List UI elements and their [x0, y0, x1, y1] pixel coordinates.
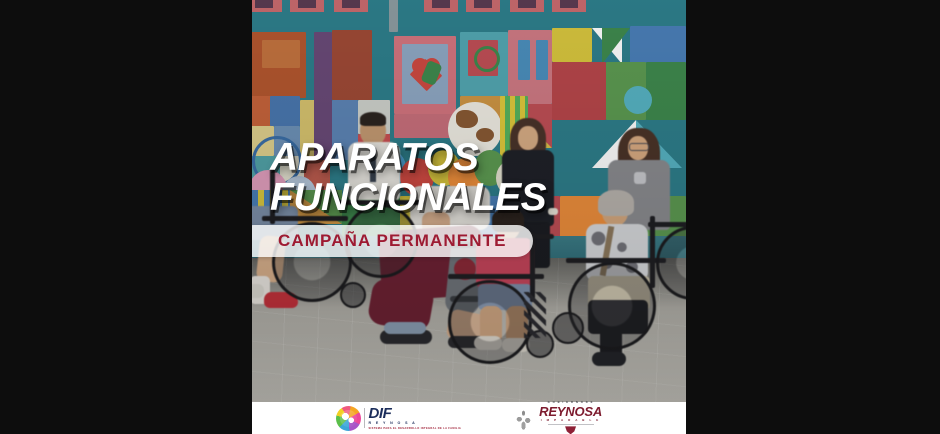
screenshot-stage: APARATOS FUNCIONALES CAMPAÑA PERMANENTE …	[0, 0, 940, 434]
reynosa-rule	[548, 424, 594, 425]
reynosa-word: REYNOSA	[539, 405, 602, 418]
dif-subword: R E Y N O S A	[368, 422, 416, 426]
reynosa-coat-of-arms-icon	[513, 406, 534, 430]
text-overlay: APARATOS FUNCIONALES CAMPAÑA PERMANENTE	[252, 0, 686, 402]
reynosa-subword: I M P A R A B L E	[541, 419, 601, 422]
dif-circular-emblem-icon	[336, 406, 361, 431]
campaign-badge: CAMPAÑA PERMANENTE	[252, 225, 533, 257]
dif-word: DIF	[368, 406, 391, 421]
headline-line-2: FUNCIONALES	[270, 178, 546, 218]
letterbox-right	[686, 0, 940, 434]
letterbox-left	[0, 0, 252, 434]
campaign-badge-label: CAMPAÑA PERMANENTE	[278, 231, 507, 251]
headline-line-1: APARATOS	[270, 138, 478, 178]
social-post-card: APARATOS FUNCIONALES CAMPAÑA PERMANENTE …	[252, 0, 686, 434]
reynosa-wordmark: G O B I E R N O D E REYNOSA I M P A R A …	[539, 402, 602, 434]
reynosa-crest-icon	[565, 426, 576, 434]
dif-wordmark: DIF R E Y N O S A SISTEMA PARA EL DESARR…	[368, 406, 461, 430]
dif-tagline: SISTEMA PARA EL DESARROLLO INTEGRAL DE L…	[368, 428, 461, 431]
reynosa-gobierno-logo: G O B I E R N O D E REYNOSA I M P A R A …	[513, 402, 602, 434]
post-footer: DIF R E Y N O S A SISTEMA PARA EL DESARR…	[252, 402, 686, 434]
logo-divider	[364, 408, 366, 428]
dif-reynosa-logo: DIF R E Y N O S A SISTEMA PARA EL DESARR…	[336, 406, 461, 431]
